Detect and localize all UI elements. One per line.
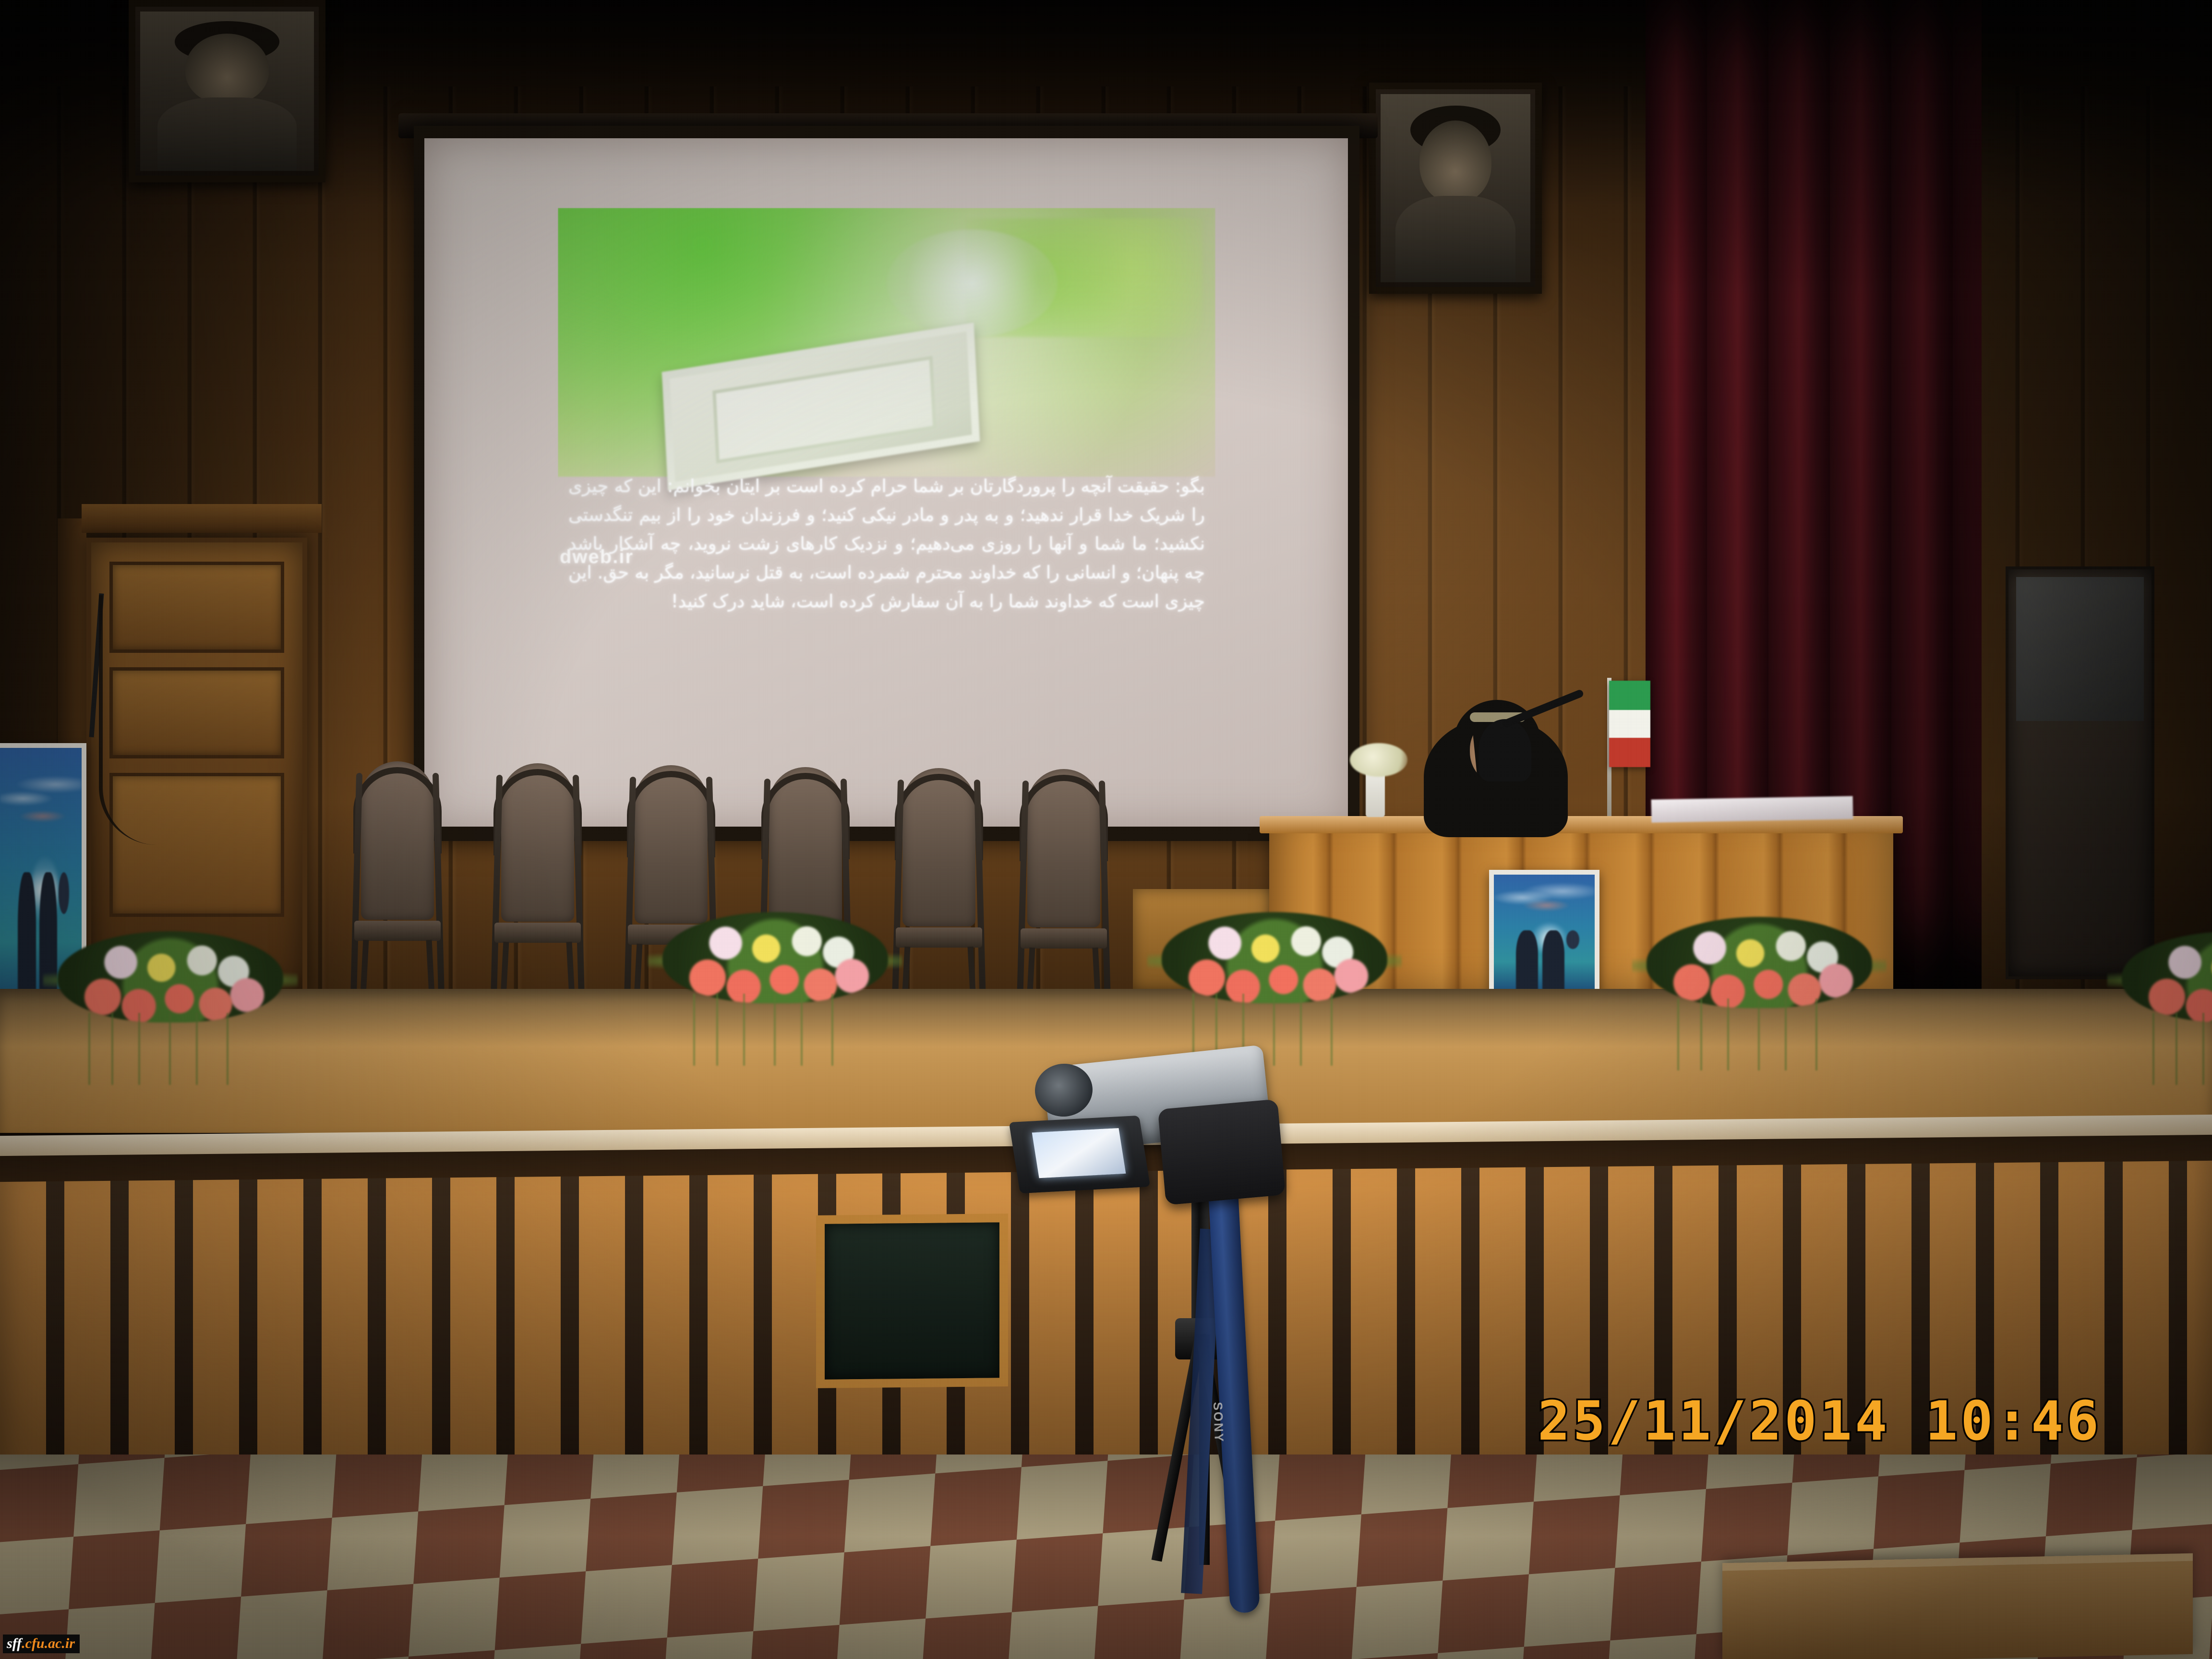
flower-arrangement [1162, 912, 1387, 1046]
podium-white-flowers [1350, 743, 1407, 777]
chair-frame-arc [1020, 775, 1108, 861]
chair-seat [494, 923, 581, 943]
projected-slide: dweb.ir بگو: حقیقت آنچه را پروردگارتان ب… [558, 208, 1215, 712]
projection-screen: dweb.ir بگو: حقیقت آنچه را پروردگارتان ب… [424, 138, 1348, 827]
photograph-canvas: dweb.ir بگو: حقیقت آنچه را پروردگارتان ب… [0, 0, 2212, 1659]
site-watermark: sff.cfu.ac.ir [3, 1635, 80, 1653]
flower-arrangement [58, 931, 283, 1066]
watermark-primary-text: sff [7, 1635, 22, 1651]
poster-clouds [0, 763, 82, 852]
slide-open-book [662, 323, 980, 491]
chair-seat [896, 927, 982, 948]
chair-frame-arc [761, 773, 850, 859]
chair-frame-right [1099, 781, 1111, 1006]
flower-arrangement [662, 912, 888, 1046]
bouquet-stems [2141, 1013, 2212, 1085]
wooden-bench [1722, 1553, 2193, 1659]
slide-photo-quran [558, 208, 1215, 477]
bouquet-blooms [1647, 917, 1872, 1008]
portrait-canvas [140, 12, 314, 171]
bouquet-stems [77, 1013, 269, 1085]
bouquet-blooms [58, 931, 283, 1022]
camera-timestamp: 25/11/2014 10:46 [1538, 1390, 2102, 1453]
poster-clouds [1494, 882, 1595, 921]
podium-papers [1651, 796, 1853, 822]
portrait-head [1419, 120, 1491, 203]
chair-seat [1021, 928, 1107, 949]
stage-chair[interactable] [350, 761, 445, 1021]
poster-balloon-icon [1566, 930, 1579, 949]
iranian-flag-icon [1609, 681, 1650, 767]
camcorder[interactable] [1018, 1046, 1296, 1210]
bouquet-stems [1666, 998, 1858, 1070]
portrait-body [1395, 196, 1515, 282]
poster-balloon-icon [59, 872, 69, 914]
bouquet-blooms [662, 912, 888, 1003]
framed-portrait-right [1369, 83, 1542, 294]
portrait-body [157, 97, 297, 171]
chair-seat [354, 921, 441, 941]
poster-stage [1489, 870, 1599, 996]
camcorder-lcd-housing[interactable] [1009, 1116, 1151, 1193]
portrait-head [185, 34, 269, 104]
portrait-canvas [1381, 94, 1530, 282]
wall-ledge [82, 504, 322, 533]
cable [99, 595, 156, 845]
chair-frame-arc [493, 769, 582, 855]
flower-arrangement [2122, 931, 2212, 1066]
chair-frame-right [974, 780, 986, 1005]
poster-silhouette [1516, 930, 1538, 991]
poster-silhouette [18, 872, 36, 1007]
flower-arrangement [1647, 917, 1872, 1051]
chair-frame-arc [353, 767, 442, 854]
chair-frame-right [573, 775, 585, 1000]
bouquet-stems [682, 994, 874, 1066]
stage-vent-grille [816, 1214, 1008, 1388]
chair-frame-right [433, 773, 445, 998]
watermark-secondary-text: .cfu.ac.ir [22, 1635, 75, 1651]
camcorder-brand-label: SONY [1210, 1402, 1226, 1443]
poster-silhouette [1542, 930, 1564, 991]
stage-chair[interactable] [892, 768, 986, 1027]
chair-frame-arc [627, 771, 715, 857]
framed-portrait-left [129, 0, 325, 182]
bouquet-blooms [1162, 912, 1387, 1003]
camcorder-lcd-screen [1032, 1128, 1126, 1178]
stage-chair[interactable] [491, 763, 585, 1022]
chair-frame-arc [895, 774, 983, 860]
camcorder-grip [1158, 1099, 1286, 1205]
microphone-icon [1479, 719, 1531, 781]
slide-body-text: بگو: حقیقت آنچه را پروردگارتان بر شما حر… [558, 467, 1215, 712]
slide-flower-bloom [887, 229, 1058, 337]
